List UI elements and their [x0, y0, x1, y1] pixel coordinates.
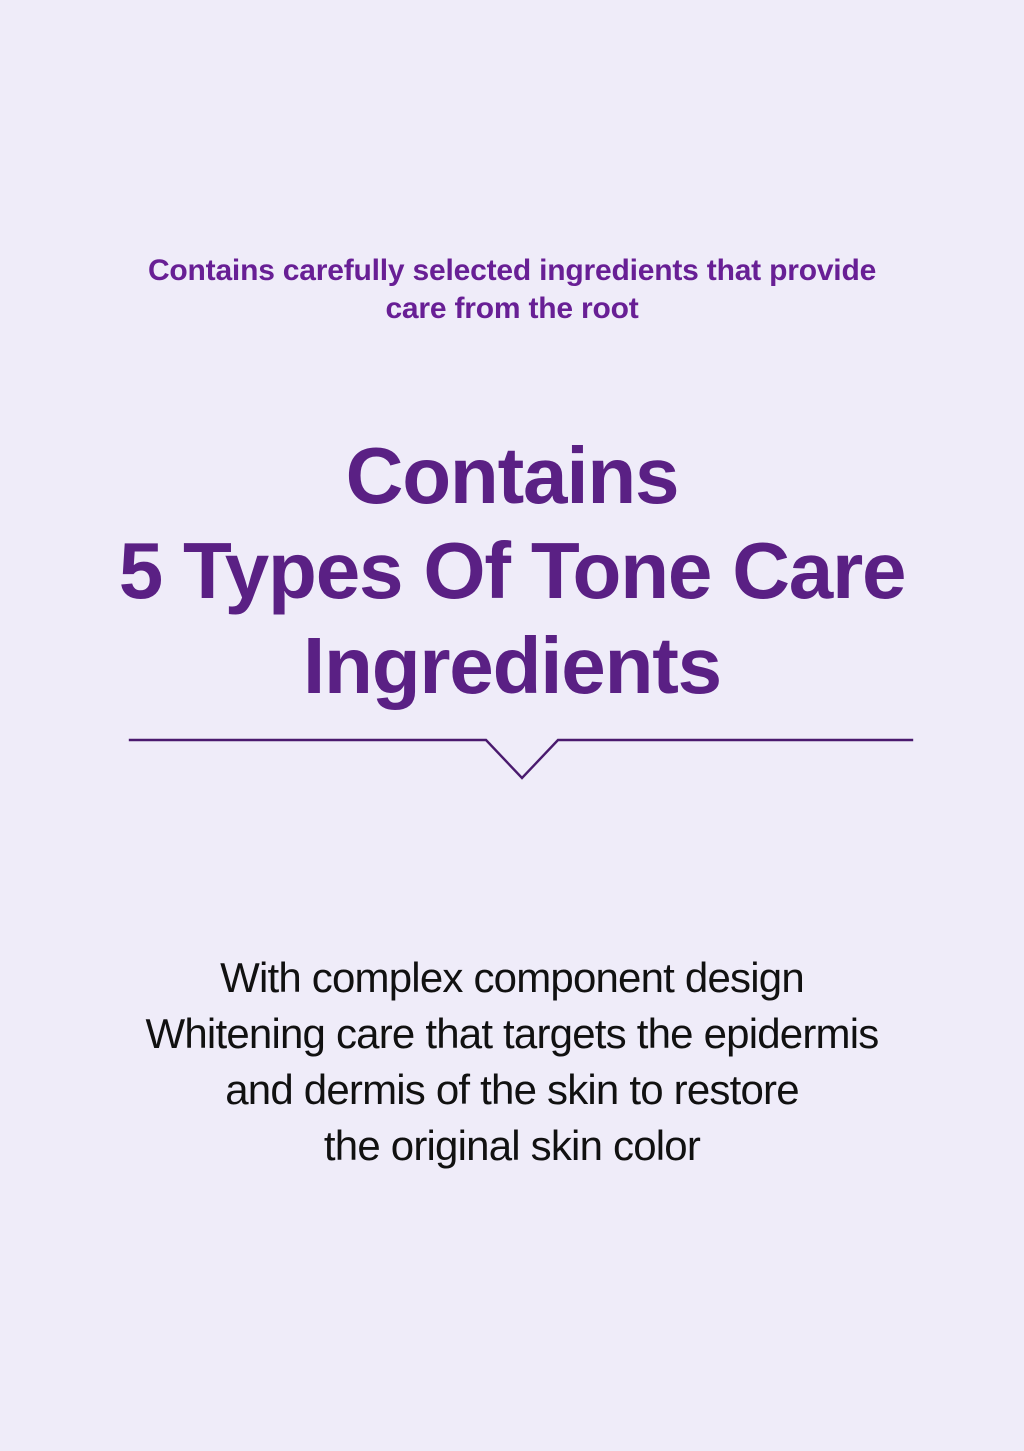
promo-slide: Contains carefully selected ingredients … [0, 0, 1024, 1451]
headline-line-1: Contains [0, 428, 1024, 523]
headline-line-2: 5 Types Of Tone Care [0, 523, 1024, 618]
headline-line-3: Ingredients [0, 618, 1024, 713]
v-notch-rule-icon [0, 712, 1024, 802]
page-title: Contains 5 Types Of Tone Care Ingredient… [0, 428, 1024, 713]
divider [0, 712, 1024, 802]
body-paragraph: With complex component design Whitening … [0, 950, 1024, 1174]
eyebrow-text: Contains carefully selected ingredients … [0, 252, 1024, 328]
